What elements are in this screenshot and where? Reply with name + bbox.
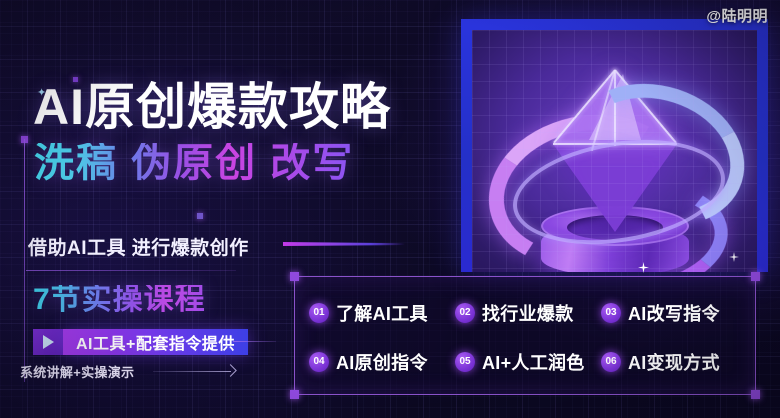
wireframe-edge-icon — [614, 69, 677, 143]
poster-canvas: ✦ @陆明明 — [0, 0, 780, 418]
decor-square-marker — [197, 213, 203, 219]
lesson-label: AI改写指令 — [628, 300, 720, 326]
decor-arrow-head-icon — [224, 364, 237, 377]
sparkle-icon — [729, 252, 739, 262]
lesson-label: AI变现方式 — [628, 349, 720, 375]
lesson-label: AI+人工润色 — [482, 349, 585, 375]
ribbon-arc-bottom-icon — [537, 173, 734, 272]
orbit-ring-icon — [505, 126, 732, 258]
decor-horizontal-line — [26, 270, 236, 271]
decor-arrow-line — [153, 371, 231, 372]
lesson-number-badge: 01 — [309, 303, 329, 323]
lesson-label: AI原创指令 — [336, 349, 428, 375]
cylinder-base-icon — [541, 224, 689, 272]
wireframe-edge-icon — [614, 70, 616, 146]
list-item: 01 了解AI工具 — [309, 290, 453, 335]
course-count-title: 7节实操课程 — [33, 285, 206, 315]
lesson-number-badge: 05 — [455, 352, 475, 372]
triangle-glyph — [43, 335, 54, 349]
lesson-number-badge: 06 — [601, 352, 621, 372]
lesson-grid: 01 了解AI工具 02 找行业爆款 03 AI改写指令 04 AI原创指令 0… — [295, 277, 755, 394]
decor-vertical-line — [24, 139, 25, 382]
cylinder-hole-icon — [567, 215, 663, 240]
artwork-3d-scene — [472, 30, 757, 272]
artwork-panel — [461, 19, 768, 272]
list-item: 04 AI原创指令 — [309, 339, 453, 384]
footnote: 系统讲解+实操演示 — [20, 362, 134, 381]
octahedron-highlight-icon — [589, 74, 641, 140]
lesson-number-badge: 04 — [309, 352, 329, 372]
watermark: @陆明明 — [706, 5, 768, 26]
artwork-inner — [472, 30, 757, 272]
cylinder-top-icon — [541, 206, 689, 246]
list-item: 06 AI变现方式 — [601, 339, 745, 384]
page-title: AI原创爆款攻略 — [33, 82, 391, 132]
list-item: 03 AI改写指令 — [601, 290, 745, 335]
wireframe-edge-icon — [590, 70, 615, 151]
offer-badge: AI工具+配套指令提供 — [33, 329, 248, 355]
octahedron-upper-icon — [553, 70, 677, 144]
list-item: 02 找行业爆款 — [455, 290, 599, 335]
ribbon-arc-right-icon — [551, 62, 757, 248]
page-subtitle: 洗稿 伪原创 改写 — [34, 143, 354, 183]
wireframe-edge-icon — [553, 69, 616, 143]
lesson-label: 了解AI工具 — [336, 300, 428, 326]
list-item: 05 AI+人工润色 — [455, 339, 599, 384]
decor-badge-tail-line — [233, 341, 276, 342]
decor-dash-accent — [283, 242, 405, 246]
tagline: 借助AI工具 进行爆款创作 — [28, 233, 249, 260]
wireframe-edge-icon — [553, 143, 677, 145]
offer-badge-label: AI工具+配套指令提供 — [63, 329, 248, 355]
octahedron-lower-icon — [553, 144, 677, 232]
play-triangle-icon — [33, 329, 63, 355]
lesson-label: 找行业爆款 — [482, 300, 574, 326]
ribbon-arc-left-icon — [475, 97, 700, 272]
lesson-number-badge: 03 — [601, 303, 621, 323]
lesson-list-panel: 01 了解AI工具 02 找行业爆款 03 AI改写指令 04 AI原创指令 0… — [294, 276, 756, 395]
lesson-number-badge: 02 — [455, 303, 475, 323]
